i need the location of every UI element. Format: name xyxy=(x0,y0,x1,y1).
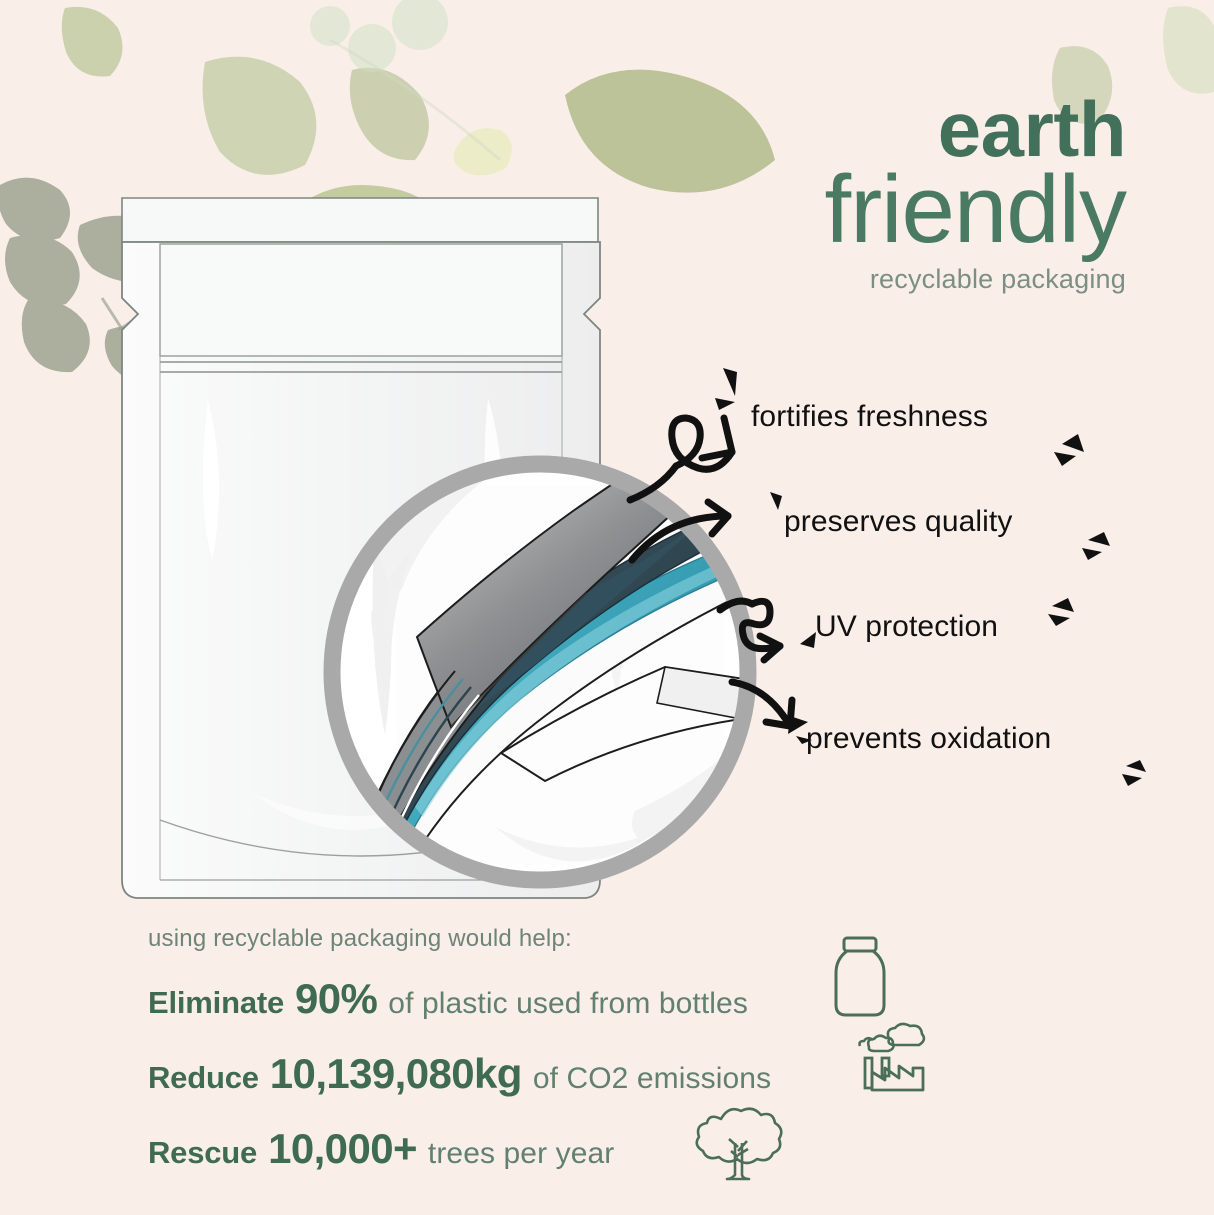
stat-verb: Reduce xyxy=(148,1060,259,1096)
stat-tail: trees per year xyxy=(428,1137,614,1171)
accent-tick-icon xyxy=(1046,598,1078,628)
accent-tick-icon xyxy=(1080,530,1114,562)
stat-number: 10,000+ xyxy=(268,1125,417,1173)
feature-label-uv-protection: UV protection xyxy=(815,610,998,644)
accent-tick-icon xyxy=(1052,434,1088,468)
stat-row-reduce: Reduce 10,139,080kg of CO2 emissions xyxy=(148,1050,1148,1098)
stat-row-rescue: Rescue 10,000+ trees per year xyxy=(148,1125,1148,1173)
headline-line-earth: earth xyxy=(566,92,1126,166)
magnifier-film-layers-illustration xyxy=(305,435,775,910)
stats-intro-text: using recyclable packaging would help: xyxy=(148,925,1148,953)
stat-row-eliminate: Eliminate 90% of plastic used from bottl… xyxy=(148,975,1148,1023)
earth-friendly-infographic: earth friendly recyclable packaging fort… xyxy=(0,0,1214,1215)
feature-label-prevents-oxidation: prevents oxidation xyxy=(806,722,1051,756)
stat-verb: Rescue xyxy=(148,1135,257,1171)
stats-block: using recyclable packaging would help: E… xyxy=(148,925,1148,1200)
accent-tick-icon xyxy=(1120,760,1150,788)
stat-tail: of CO2 emissions xyxy=(533,1062,771,1096)
feature-label-preserves-quality: preserves quality xyxy=(784,505,1012,539)
headline-line-friendly: friendly xyxy=(566,162,1126,258)
stat-verb: Eliminate xyxy=(148,985,284,1021)
headline-subtitle: recyclable packaging xyxy=(566,264,1126,295)
stat-number: 90% xyxy=(295,975,377,1023)
accent-tick-icon xyxy=(715,368,755,412)
headline-block: earth friendly recyclable packaging xyxy=(566,92,1126,295)
stat-number: 10,139,080kg xyxy=(270,1050,522,1098)
stat-tail: of plastic used from bottles xyxy=(388,987,748,1021)
feature-label-fortifies-freshness: fortifies freshness xyxy=(751,400,988,434)
